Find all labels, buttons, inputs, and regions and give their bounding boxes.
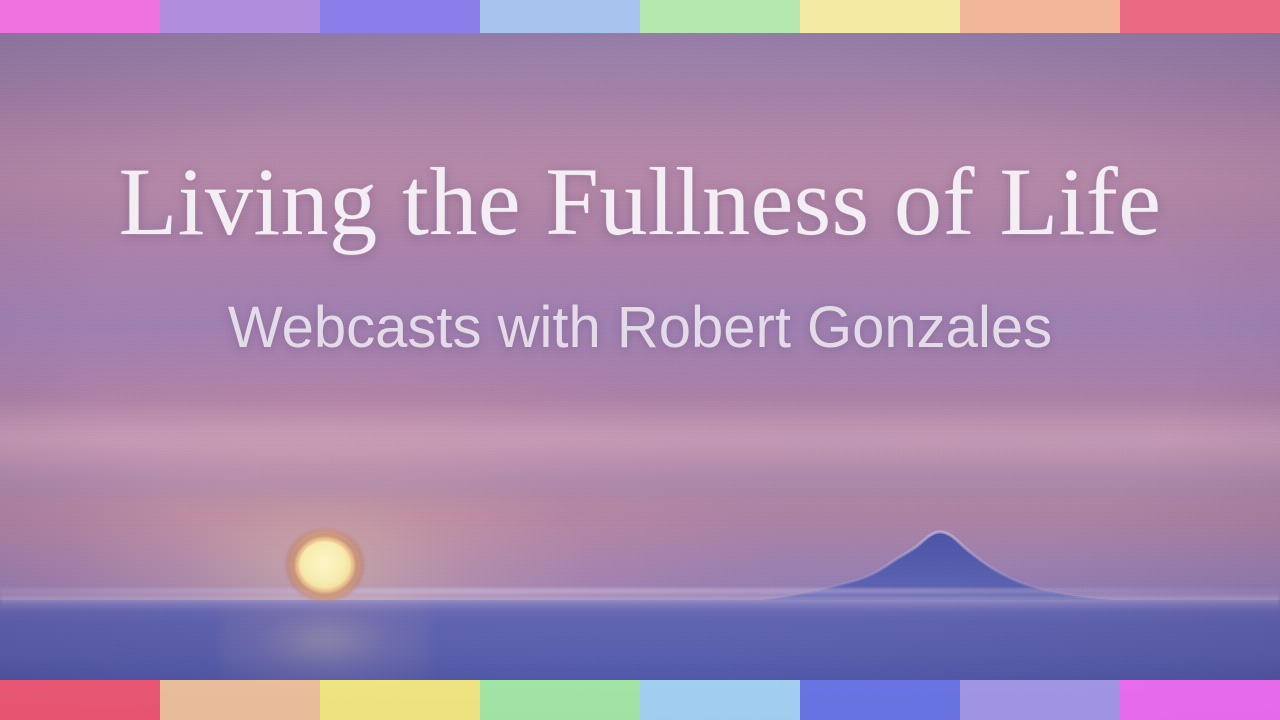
bar-yellow	[320, 680, 480, 720]
bar-violet	[320, 0, 480, 33]
bar-magenta	[0, 0, 160, 33]
slide-subtitle: Webcasts with Robert Gonzales	[0, 296, 1280, 360]
bar-lavender	[160, 0, 320, 33]
bar-magenta	[1120, 680, 1280, 720]
sun-core	[299, 541, 351, 589]
color-bars-top	[0, 0, 1280, 33]
bar-peach	[160, 680, 320, 720]
video-slide: Living the Fullness of Life Webcasts wit…	[0, 0, 1280, 720]
bar-sky-blue	[480, 0, 640, 33]
bar-periwinkle	[960, 680, 1120, 720]
background-photo	[0, 0, 1280, 720]
bar-light-green	[480, 680, 640, 720]
bar-peach	[960, 0, 1120, 33]
bar-light-blue	[640, 680, 800, 720]
sun-reflection	[220, 590, 430, 690]
water-sheen	[0, 596, 1280, 612]
setting-sun-icon	[286, 529, 364, 601]
color-bars-bottom	[0, 680, 1280, 720]
bar-mint-green	[640, 0, 800, 33]
bar-rose-red	[1120, 0, 1280, 33]
horizon-line	[0, 588, 1280, 594]
bar-pink-red	[0, 680, 160, 720]
bar-pale-yellow	[800, 0, 960, 33]
slide-title: Living the Fullness of Life	[0, 152, 1280, 253]
bar-blue-violet	[800, 680, 960, 720]
